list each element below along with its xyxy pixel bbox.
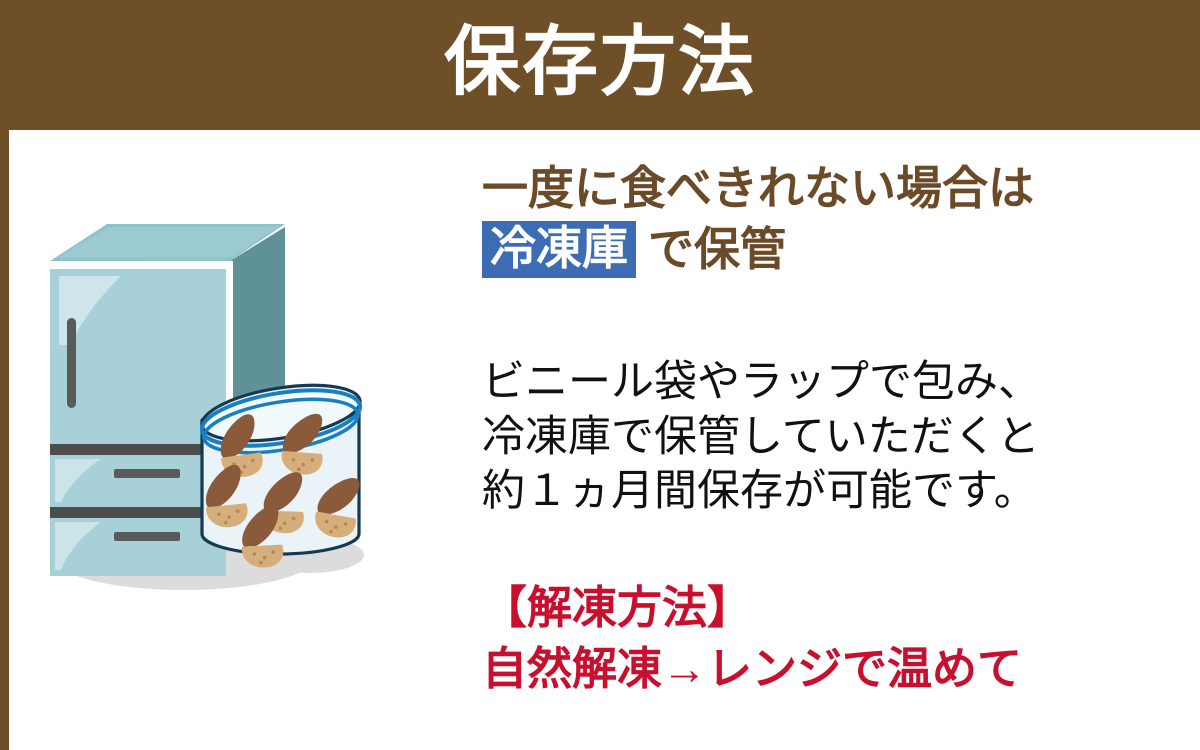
body-line-3: 約１ヵ月間保存が可能です。 xyxy=(482,464,1182,519)
freezer-bag xyxy=(198,376,364,569)
freezer-highlight-badge: 冷凍庫 xyxy=(482,221,636,278)
headline-line-2: 冷凍庫 で保管 xyxy=(482,221,1182,278)
header-banner: 保存方法 xyxy=(0,0,1200,130)
fridge-top-edge xyxy=(50,261,230,269)
drawer-divider-2 xyxy=(50,507,226,518)
left-border-rule xyxy=(0,130,9,750)
drawer-2-handle xyxy=(114,532,180,541)
thawing-method-block: 【解凍方法】 自然解凍→レンジで温めて xyxy=(482,578,1182,700)
drawer-1-handle xyxy=(114,469,180,478)
thawing-method-heading: 【解凍方法】 xyxy=(482,578,1182,639)
headline-block: 一度に食べきれない場合は 冷凍庫 で保管 xyxy=(482,160,1182,278)
drawer-divider-1 xyxy=(50,444,226,455)
refrigerator-and-freezer-bag-illustration xyxy=(9,130,474,750)
illustration-panel xyxy=(9,130,474,750)
thawing-method-instruction: 自然解凍→レンジで温めて xyxy=(482,639,1182,700)
body-line-2: 冷凍庫で保管していただくと xyxy=(482,410,1182,465)
body-line-1: ビニール袋やラップで包み、 xyxy=(482,355,1182,410)
text-panel: 一度に食べきれない場合は 冷凍庫 で保管 ビニール袋やラップで包み、 冷凍庫で保… xyxy=(478,140,1190,740)
fridge-door-handle xyxy=(67,318,76,408)
headline-suffix-text: で保管 xyxy=(648,221,786,278)
headline-line-1: 一度に食べきれない場合は xyxy=(482,160,1182,217)
page-title: 保存方法 xyxy=(444,25,756,105)
body-paragraph: ビニール袋やラップで包み、 冷凍庫で保管していただくと 約１ヵ月間保存が可能です… xyxy=(482,355,1182,519)
storage-method-infographic: 保存方法 xyxy=(0,0,1200,750)
